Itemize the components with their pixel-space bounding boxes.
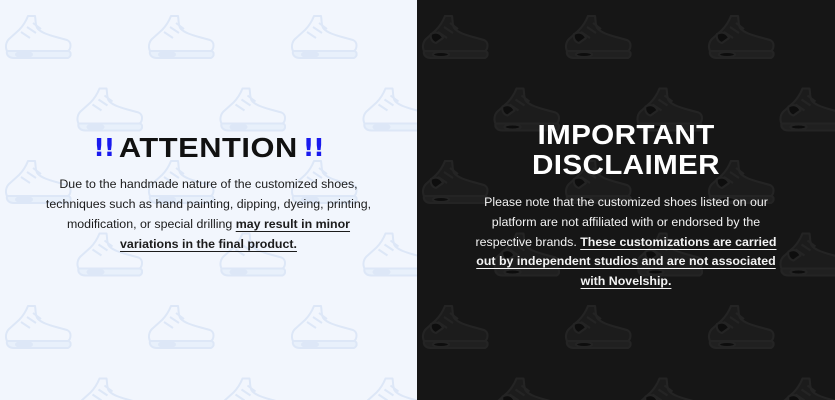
disclaimer-body-text: Please note that the customized shoes li… bbox=[466, 180, 786, 292]
attention-title: ATTENTION bbox=[119, 134, 298, 162]
exclamation-right-icon: !! bbox=[303, 135, 324, 160]
disclaimer-title-line-2: DISCLAIMER bbox=[430, 150, 822, 180]
attention-heading-row: !! ATTENTION !! bbox=[28, 0, 389, 162]
exclamation-left-icon: !! bbox=[93, 135, 114, 160]
attention-body-text: Due to the handmade nature of the custom… bbox=[44, 162, 374, 254]
disclaimer-panel: IMPORTANT DISCLAIMER Please note that th… bbox=[417, 0, 835, 400]
disclaimer-title: IMPORTANT DISCLAIMER bbox=[441, 0, 811, 180]
promo-banner: !! ATTENTION !! Due to the handmade natu… bbox=[0, 0, 835, 400]
disclaimer-title-line-1: IMPORTANT bbox=[430, 120, 822, 150]
attention-panel: !! ATTENTION !! Due to the handmade natu… bbox=[0, 0, 417, 400]
